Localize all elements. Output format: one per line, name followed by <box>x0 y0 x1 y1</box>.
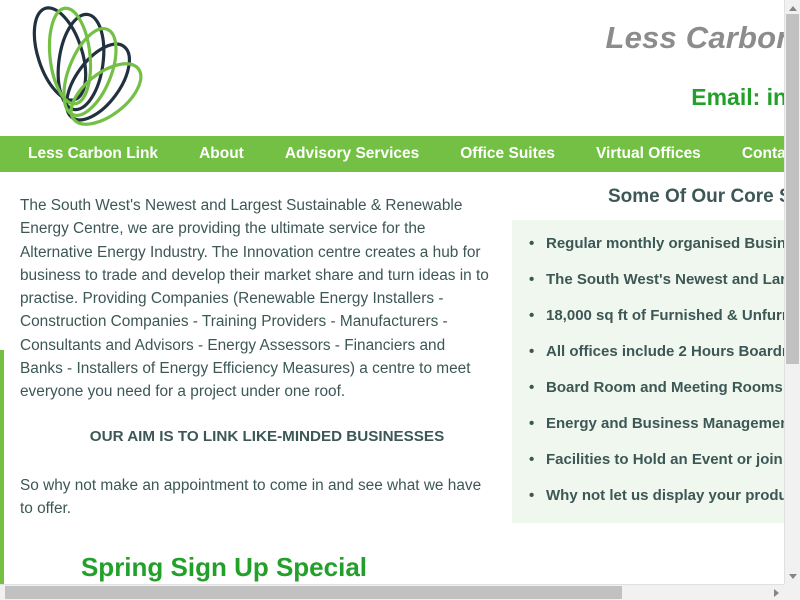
aim-heading: OUR AIM IS TO LINK LIKE-MINDED BUSINESSE… <box>20 428 490 445</box>
site-header: Less Carbon Link Innovation Centre Email… <box>0 0 800 136</box>
services-panel: • Regular monthly organised Business Eve… <box>512 220 800 523</box>
scroll-down-arrow-icon[interactable] <box>785 568 800 584</box>
bullet-icon: • <box>529 414 534 433</box>
list-item-label: 18,000 sq ft of Furnished & Unfurnished … <box>546 307 800 324</box>
main-column: The South West's Newest and Largest Sust… <box>0 172 512 584</box>
list-item-label: The South West's Newest and Largest Ener… <box>546 271 800 288</box>
list-item: • Why not let us display your products i… <box>520 486 800 505</box>
site-email[interactable]: Email: info@lesscarbonlink.co.uk <box>160 84 800 111</box>
list-item-label: Regular monthly organised Business Event… <box>546 235 800 252</box>
list-item-label: Board Room and Meeting Rooms Hourly & Da… <box>546 379 800 396</box>
bullet-icon: • <box>529 306 534 325</box>
main-navigation: Less Carbon Link About Advisory Services… <box>0 136 800 172</box>
bullet-icon: • <box>529 378 534 397</box>
bullet-icon: • <box>529 450 534 469</box>
list-item-label: Energy and Business Management Support f… <box>546 415 800 432</box>
bullet-icon: • <box>529 486 534 505</box>
list-item: • Energy and Business Management Support… <box>520 414 800 433</box>
spring-sign-up-heading: Spring Sign Up Special <box>20 552 490 583</box>
list-item: • Regular monthly organised Business Eve… <box>520 234 800 253</box>
bullet-icon: • <box>529 270 534 289</box>
nav-item-less-carbon-link[interactable]: Less Carbon Link <box>28 136 158 172</box>
nav-item-virtual-offices[interactable]: Virtual Offices <box>596 136 701 172</box>
browser-viewport: Less Carbon Link Innovation Centre Email… <box>0 0 800 600</box>
vertical-scrollbar[interactable] <box>784 0 800 584</box>
services-heading: Some Of Our Core Services <box>512 172 800 208</box>
nav-item-advisory-services[interactable]: Advisory Services <box>285 136 419 172</box>
services-sidebar: Some Of Our Core Services • Regular mont… <box>512 172 800 584</box>
green-accent-bar <box>0 350 4 584</box>
content-area: The South West's Newest and Largest Sust… <box>0 172 800 584</box>
list-item-label: Why not let us display your products in … <box>546 487 800 504</box>
list-item: • Facilities to Hold an Event or join ou… <box>520 450 800 469</box>
vertical-scrollbar-thumb[interactable] <box>786 14 799 364</box>
nav-item-office-suites[interactable]: Office Suites <box>460 136 555 172</box>
bullet-icon: • <box>529 234 534 253</box>
less-carbon-link-petal-logo[interactable] <box>18 6 143 134</box>
nav-item-about[interactable]: About <box>199 136 244 172</box>
scroll-right-arrow-icon[interactable] <box>768 585 784 600</box>
page-content: Less Carbon Link Innovation Centre Email… <box>0 0 800 584</box>
bullet-icon: • <box>529 342 534 361</box>
list-item-label: All offices include 2 Hours Boardroom Ti… <box>546 343 800 360</box>
appointment-paragraph: So why not make an appointment to come i… <box>20 474 490 521</box>
scrollbar-corner <box>784 584 800 600</box>
list-item: • 18,000 sq ft of Furnished & Unfurnishe… <box>520 306 800 325</box>
list-item: • Board Room and Meeting Rooms Hourly & … <box>520 378 800 397</box>
list-item-label: Facilities to Hold an Event or join our … <box>546 451 800 468</box>
horizontal-scrollbar-thumb[interactable] <box>5 586 622 599</box>
intro-paragraph: The South West's Newest and Largest Sust… <box>20 194 490 404</box>
site-title: Less Carbon Link Innovation Centre <box>160 20 800 56</box>
header-text-block: Less Carbon Link Innovation Centre Email… <box>160 0 800 136</box>
services-list: • Regular monthly organised Business Eve… <box>520 234 800 505</box>
list-item: • The South West's Newest and Largest En… <box>520 270 800 289</box>
list-item: • All offices include 2 Hours Boardroom … <box>520 342 800 361</box>
horizontal-scrollbar[interactable] <box>0 584 800 600</box>
